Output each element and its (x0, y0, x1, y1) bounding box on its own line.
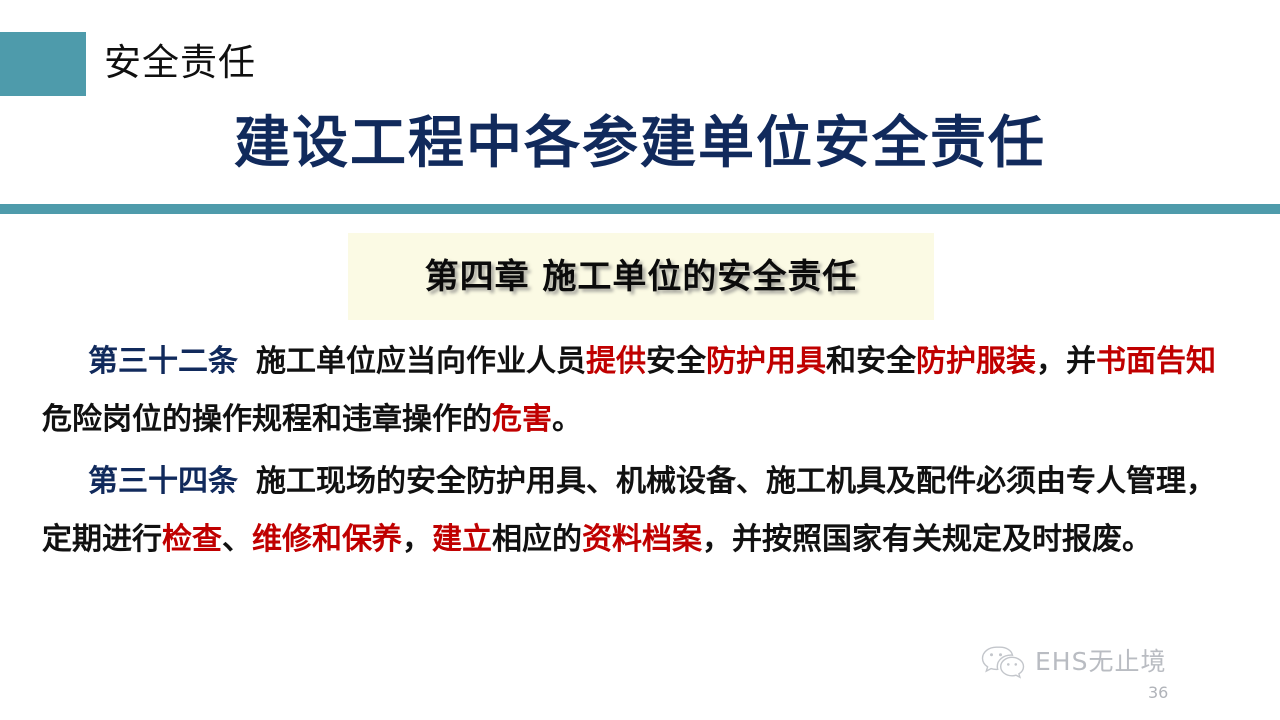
text-run: 和安全 (826, 344, 916, 379)
text-run: 、 (222, 522, 252, 557)
text-run: 第三十二条 (88, 344, 238, 379)
text-run: ，并按照国家有关规定及时报废。 (702, 522, 1152, 557)
text-run: 提供 (586, 344, 646, 379)
rich-text-runs: 第三十二条施工单位应当向作业人员提供安全防护用具和安全防护服装，并书面告知危险岗… (42, 344, 1216, 437)
text-run: 危害 (492, 402, 552, 437)
watermark-label: EHS无止境 (1035, 648, 1166, 676)
text-run: 检查 (162, 522, 222, 557)
kicker-accent-block (0, 32, 86, 96)
text-run: ， (402, 522, 432, 557)
chapter-banner-label: 第四章 施工单位的安全责任 (425, 255, 858, 299)
wechat-icon (980, 645, 1026, 679)
text-run: 资料档案 (582, 522, 702, 557)
header-divider-rule (0, 204, 1280, 214)
body-copy: 第三十二条施工单位应当向作业人员提供安全防护用具和安全防护服装，并书面告知危险岗… (42, 333, 1242, 569)
text-run: 维修和保养 (252, 522, 402, 557)
text-run: 危险岗位的操作规程和违章操作的 (42, 402, 492, 437)
kicker-label: 安全责任 (104, 38, 256, 88)
text-run: 防护服装 (916, 344, 1036, 379)
chapter-banner: 第四章 施工单位的安全责任 (348, 233, 934, 320)
text-run: 书面告知 (1096, 344, 1216, 379)
page-title: 建设工程中各参建单位安全责任 (0, 108, 1280, 180)
paragraph-article-34: 第三十四条施工现场的安全防护用具、机械设备、施工机具及配件必须由专人管理，定期进… (42, 453, 1242, 569)
text-run: 施工单位应当向作业人员 (256, 344, 586, 379)
text-run: ，并 (1036, 344, 1096, 379)
slide-canvas: 安全责任 建设工程中各参建单位安全责任 第四章 施工单位的安全责任 第三十二条施… (0, 0, 1280, 720)
text-run: 防护用具 (706, 344, 826, 379)
page-number: 36 (1148, 684, 1168, 702)
paragraph-article-32: 第三十二条施工单位应当向作业人员提供安全防护用具和安全防护服装，并书面告知危险岗… (42, 333, 1242, 449)
watermark: EHS无止境 (980, 645, 1166, 679)
text-run: 第三十四条 (88, 464, 238, 499)
rich-text-runs: 第三十四条施工现场的安全防护用具、机械设备、施工机具及配件必须由专人管理，定期进… (42, 464, 1216, 557)
text-run: 安全 (646, 344, 706, 379)
text-run: 建立 (432, 522, 492, 557)
text-run: 相应的 (492, 522, 582, 557)
text-run: 。 (552, 402, 582, 437)
